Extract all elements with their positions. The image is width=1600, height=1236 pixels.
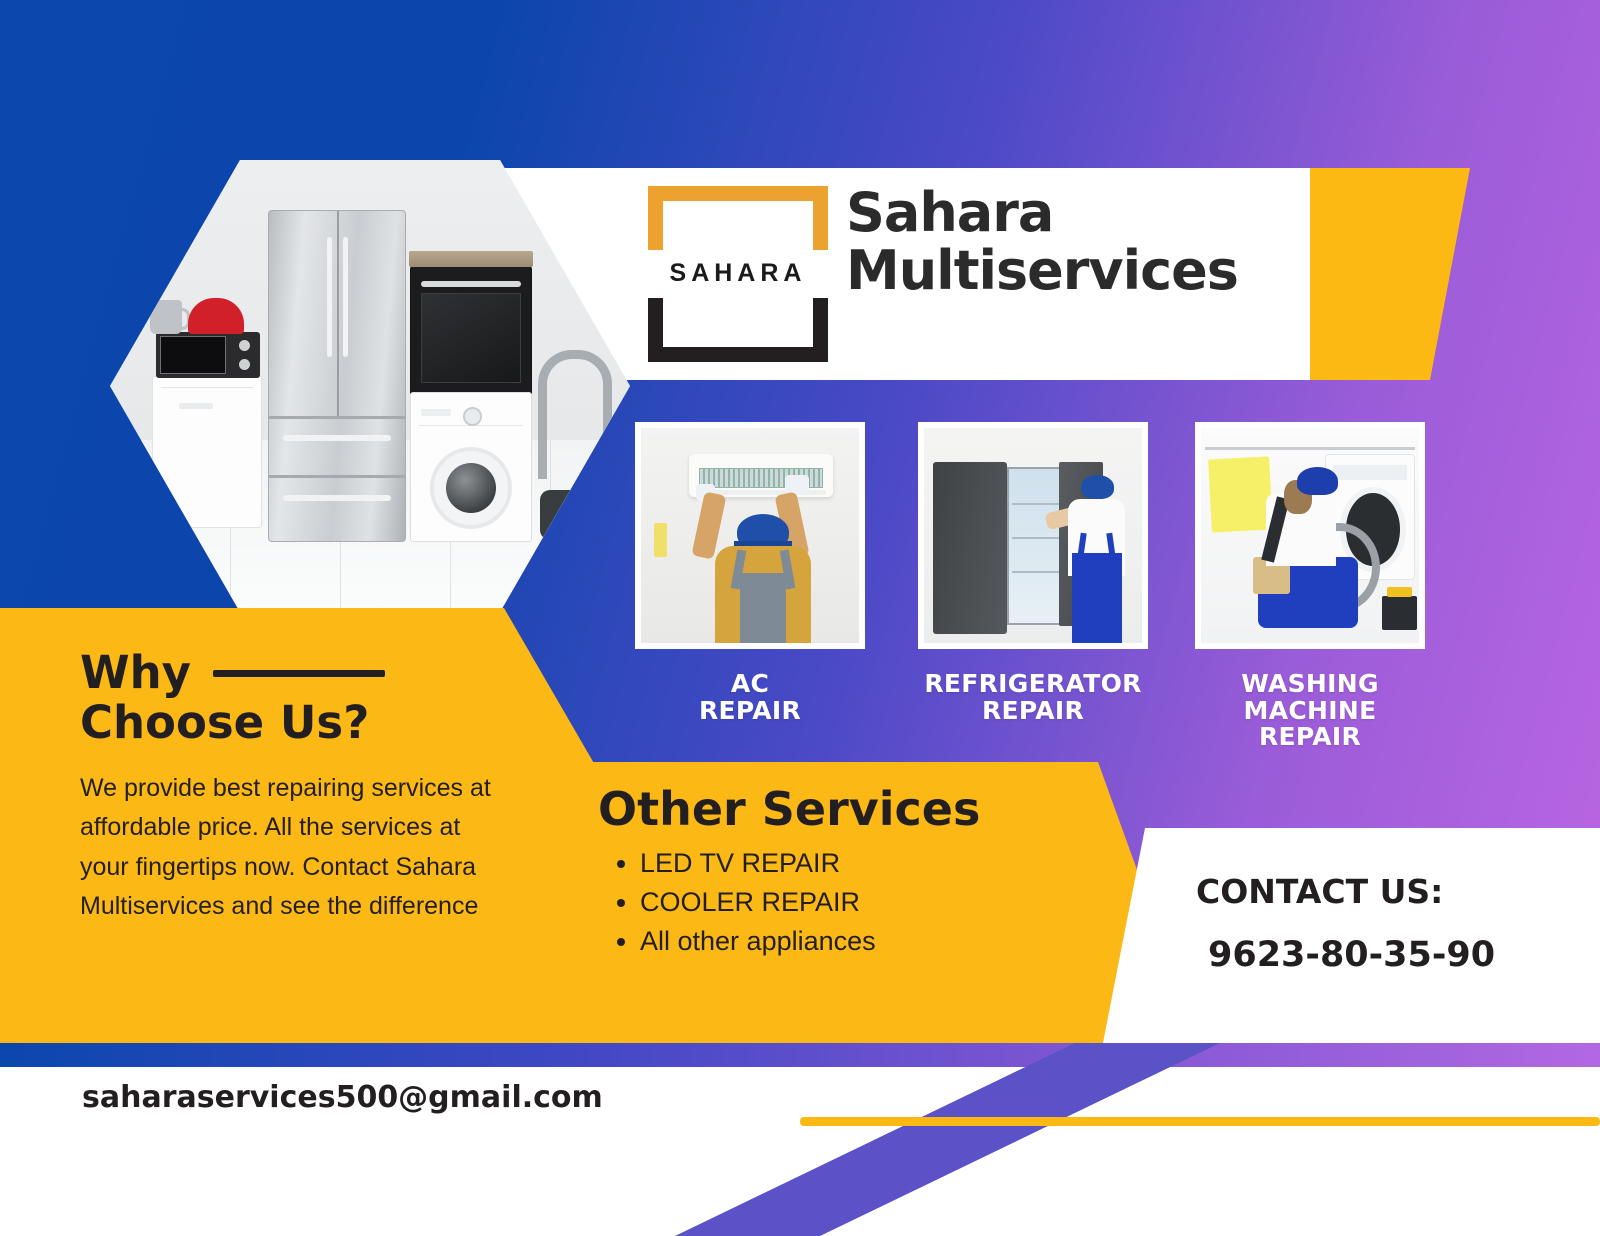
service-caption-ac: AC REPAIR xyxy=(635,671,865,724)
oven-icon xyxy=(410,266,532,396)
dishwasher-icon xyxy=(152,376,262,528)
service-caption-line2: REPAIR xyxy=(635,698,865,725)
refrigerator-repair-photo xyxy=(924,428,1142,643)
washing-machine-icon xyxy=(410,392,532,542)
flyer-canvas: SAHARA Sahara Multiservices AC REPAIR xyxy=(0,0,1600,1236)
service-photo-frame xyxy=(918,422,1148,649)
brand-name: Sahara Multiservices xyxy=(846,184,1316,301)
footer-yellow-rule xyxy=(800,1117,1600,1126)
service-caption-line1: AC xyxy=(635,671,865,698)
ac-repair-photo xyxy=(641,428,859,643)
service-card-washing-machine-repair[interactable]: WASHING MACHINE REPAIR xyxy=(1195,422,1425,751)
service-photo-frame xyxy=(1195,422,1425,649)
sahara-logo: SAHARA xyxy=(648,186,828,362)
logo-orange-bracket-icon xyxy=(648,186,828,250)
other-services-list: LED TV REPAIR COOLER REPAIR All other ap… xyxy=(598,844,1118,961)
why-choose-us-section: Why Choose Us? We provide best repairing… xyxy=(80,648,500,927)
contact-section: CONTACT US: 9623-80-35-90 xyxy=(1196,872,1566,975)
contact-email[interactable]: saharaservices500@gmail.com xyxy=(82,1080,603,1115)
service-caption-refrigerator: REFRIGERATOR REPAIR xyxy=(918,671,1148,724)
other-services-section: Other Services LED TV REPAIR COOLER REPA… xyxy=(598,786,1118,961)
logo-dark-bracket-icon xyxy=(648,298,828,362)
why-choose-us-heading: Why Choose Us? xyxy=(80,648,500,749)
service-caption-washing-machine: WASHING MACHINE REPAIR xyxy=(1195,671,1425,751)
microwave-icon xyxy=(156,332,260,378)
list-item: All other appliances xyxy=(640,922,1118,961)
service-caption-line1: REFRIGERATOR xyxy=(918,671,1148,698)
brand-name-line2: Multiservices xyxy=(846,242,1316,300)
why-choose-us-body: We provide best repairing services at af… xyxy=(80,769,500,927)
service-caption-line1: WASHING MACHINE xyxy=(1195,671,1425,724)
list-item: COOLER REPAIR xyxy=(640,883,1118,922)
service-caption-line2: REPAIR xyxy=(1195,724,1425,751)
why-heading-line1: Why xyxy=(80,648,191,698)
service-card-refrigerator-repair[interactable]: REFRIGERATOR REPAIR xyxy=(918,422,1148,724)
vacuum-cleaner-icon xyxy=(534,350,600,540)
refrigerator-icon xyxy=(268,210,406,542)
list-item: LED TV REPAIR xyxy=(640,844,1118,883)
service-photo-frame xyxy=(635,422,865,649)
toaster-icon xyxy=(188,298,244,334)
why-heading-line2: Choose Us? xyxy=(80,698,500,748)
logo-wordmark: SAHARA xyxy=(648,248,828,298)
header-orange-accent xyxy=(1310,168,1470,380)
other-services-heading: Other Services xyxy=(598,786,1118,832)
brand-name-line1: Sahara xyxy=(846,184,1316,242)
kettle-icon xyxy=(150,300,182,334)
service-card-ac-repair[interactable]: AC REPAIR xyxy=(635,422,865,724)
contact-label: CONTACT US: xyxy=(1196,872,1566,911)
heading-rule xyxy=(213,670,385,677)
bottom-gradient-strip xyxy=(0,1043,1600,1069)
service-caption-line2: REPAIR xyxy=(918,698,1148,725)
contact-phone[interactable]: 9623-80-35-90 xyxy=(1208,935,1566,975)
washing-machine-repair-photo xyxy=(1201,428,1419,643)
